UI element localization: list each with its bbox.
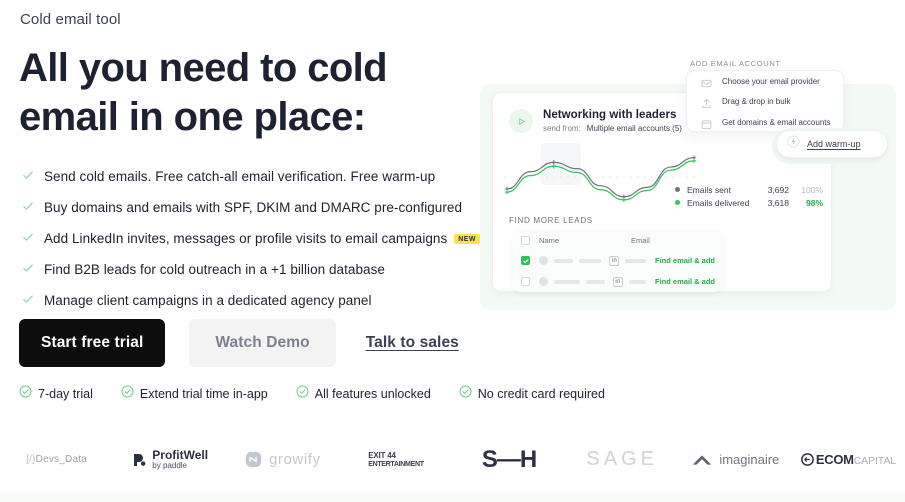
delivery-chart (503, 149, 698, 207)
legend-label: Emails sent (687, 185, 759, 195)
campaign-sendfrom-value: Multiple email accounts (5) (587, 124, 682, 133)
menu-item-label: Get domains & email accounts (722, 118, 831, 127)
campaign-sendfrom-label: send from: (543, 124, 581, 133)
legend-dot (675, 187, 680, 192)
growify-label: growify (269, 451, 321, 468)
ecom-label: ECOM (816, 452, 854, 467)
placeholder-bar (554, 259, 573, 263)
capital-label: CAPITAL (854, 455, 896, 467)
campaign-title: Networking with leaders (543, 109, 682, 121)
calendar-icon (701, 117, 712, 128)
landing-page: Cold email tool All you need to cold ema… (0, 0, 905, 502)
check-circle-icon (459, 385, 472, 403)
trial-badge-label: Extend trial time in-app (140, 387, 268, 401)
feature-label: Buy domains and emails with SPF, DKIM an… (44, 200, 462, 215)
logo-profitwell: ProfitWell by paddle (113, 449, 226, 471)
legend-value: 3,618 (759, 198, 789, 208)
add-warmup-pill[interactable]: Add warm-up (776, 130, 888, 158)
devs-data-bracket: [/} (26, 454, 36, 465)
check-circle-icon (19, 385, 32, 403)
s-h-label: S—H (482, 446, 536, 474)
legend-row: Emails sent3,692100% (675, 183, 823, 196)
add-warmup-label: Add warm-up (807, 139, 861, 149)
add-email-account-menu: Choose your email provider Drag & drop i… (686, 70, 844, 132)
check-circle-icon (296, 385, 309, 403)
legend-percent: 98% (789, 198, 823, 208)
page-eyebrow: Cold email tool (20, 11, 121, 28)
avatar (539, 256, 548, 265)
trial-badge-label: 7-day trial (38, 387, 93, 401)
start-free-trial-button[interactable]: Start free trial (19, 319, 165, 367)
legend-dot (675, 200, 680, 205)
logo-s-h: S—H (453, 446, 566, 474)
avatar (539, 277, 548, 286)
menu-item-choose-provider[interactable]: Choose your email provider (687, 71, 843, 92)
placeholder-bar (554, 280, 580, 284)
logo-imaginaire: imaginaire (679, 452, 792, 467)
check-icon (22, 261, 44, 279)
placeholder-bar (579, 259, 601, 263)
ecom-mark-icon (801, 453, 814, 466)
linkedin-icon: in (613, 277, 623, 287)
feature-item: Find B2B leads for cold outreach in a +1… (22, 257, 482, 282)
logo-sage: SAGE (566, 448, 679, 471)
envelope-icon (701, 76, 712, 87)
row-checkbox[interactable] (521, 256, 530, 265)
profitwell-label: ProfitWell (152, 449, 208, 461)
column-header-name: Name (539, 236, 631, 245)
logo-growify: growify (226, 451, 339, 468)
feature-item: Buy domains and emails with SPF, DKIM an… (22, 195, 482, 220)
feature-label: Manage client campaigns in a dedicated a… (44, 293, 372, 308)
bottom-band (0, 492, 905, 502)
placeholder-bar (625, 259, 646, 263)
imaginaire-chevron-icon (691, 453, 713, 467)
trial-badge: 7-day trial (19, 385, 93, 403)
logo-devs-data: [/}Devs_Data (0, 454, 113, 465)
feature-label: Find B2B leads for cold outreach in a +1… (44, 262, 385, 277)
placeholder-bar (586, 280, 605, 284)
leads-table-header: Name Email (513, 230, 723, 250)
placeholder-bar (629, 280, 646, 284)
exit44-line1: EXIT 44 (368, 451, 423, 460)
add-email-account-label: ADD EMAIL ACCOUNT (690, 59, 781, 68)
exit44-line2: ENTERTAINMENT (368, 460, 423, 469)
trial-badge: All features unlocked (296, 385, 431, 403)
row-checkbox[interactable] (521, 277, 530, 286)
cta-row: Start free trial Watch Demo Talk to sale… (19, 319, 459, 367)
feature-item: Send cold emails. Free catch-all email v… (22, 164, 482, 189)
check-icon (22, 292, 44, 310)
check-circle-icon (121, 385, 134, 403)
trial-badge-label: All features unlocked (315, 387, 431, 401)
legend-value: 3,692 (759, 185, 789, 195)
growify-mark-icon (245, 451, 262, 468)
menu-item-label: Drag & drop in bulk (722, 97, 790, 106)
trial-badge: No credit card required (459, 385, 605, 403)
chart-svg (503, 149, 698, 207)
talk-to-sales-link[interactable]: Talk to sales (366, 319, 459, 367)
imaginaire-label: imaginaire (719, 452, 779, 467)
feature-label: Add LinkedIn invites, messages or profil… (44, 231, 447, 246)
campaign-header: Networking with leaders send from:Multip… (509, 109, 682, 133)
profitwell-mark-icon (131, 452, 147, 468)
chart-legend: Emails sent3,692100%Emails delivered3,61… (675, 183, 823, 209)
trial-badge: Extend trial time in-app (121, 385, 268, 403)
check-icon (22, 230, 44, 248)
devs-data-label: Devs_Data (36, 454, 87, 465)
feature-item: Add LinkedIn invites, messages or profil… (22, 226, 482, 251)
play-icon[interactable] (509, 109, 533, 133)
logo-ecom-capital: ECOMCAPITAL (792, 452, 905, 467)
leads-table: Name Email in Find email & add in Find e… (513, 230, 723, 292)
find-email-and-add-link[interactable]: Find email & add (655, 277, 715, 286)
watch-demo-button[interactable]: Watch Demo (189, 319, 335, 367)
legend-label: Emails delivered (687, 198, 759, 208)
find-email-and-add-link[interactable]: Find email & add (655, 256, 715, 265)
sage-label: SAGE (586, 448, 658, 471)
trial-badges-row: 7-day trialExtend trial time in-appAll f… (19, 385, 633, 403)
legend-row: Emails delivered3,61898% (675, 196, 823, 209)
find-more-leads-title: FIND MORE LEADS (509, 216, 593, 225)
table-row[interactable]: in Find email & add (513, 250, 723, 271)
check-icon (22, 168, 44, 186)
bolt-icon (787, 135, 800, 153)
select-all-checkbox[interactable] (521, 236, 530, 245)
trial-badge-label: No credit card required (478, 387, 605, 401)
linkedin-icon: in (609, 256, 619, 266)
check-icon (22, 199, 44, 217)
page-title: All you need to cold email in one place: (19, 44, 469, 142)
column-header-email: Email (631, 236, 691, 245)
customer-logo-strip: [/}Devs_Data ProfitWell by paddle growif… (0, 432, 905, 487)
feature-list: Send cold emails. Free catch-all email v… (22, 164, 482, 319)
logo-exit44: EXIT 44 ENTERTAINMENT (339, 451, 452, 469)
profitwell-sublabel: by paddle (152, 461, 208, 471)
feature-label: Send cold emails. Free catch-all email v… (44, 169, 435, 184)
feature-item: Manage client campaigns in a dedicated a… (22, 288, 482, 313)
table-row[interactable]: in Find email & add (513, 271, 723, 292)
new-badge: NEW (454, 234, 480, 244)
menu-item-label: Choose your email provider (722, 77, 820, 86)
upload-icon (701, 96, 712, 107)
menu-item-drag-drop[interactable]: Drag & drop in bulk (687, 92, 843, 113)
legend-percent: 100% (789, 185, 823, 195)
